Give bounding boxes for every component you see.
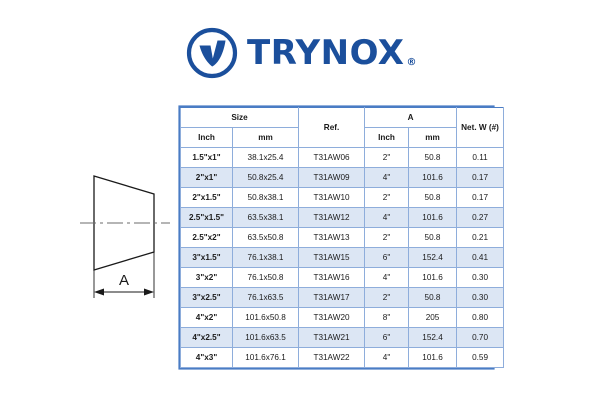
cell-a-inch: 6" [365, 328, 409, 348]
cell-size-mm: 63.5x50.8 [233, 228, 299, 248]
registered-trademark-icon: ® [407, 58, 418, 68]
cell-a-mm: 101.6 [409, 208, 457, 228]
cell-size-inch: 3"x2.5" [181, 288, 233, 308]
table-row: 3"x2.5"76.1x63.5T31AW172"50.80.30 [181, 288, 504, 308]
arrowhead-left-icon [94, 289, 104, 296]
brand-logo: TRYNOX® [186, 24, 416, 82]
cell-size-mm: 76.1x50.8 [233, 268, 299, 288]
cell-size-mm: 101.6x76.1 [233, 348, 299, 368]
cell-ref: T31AW22 [299, 348, 365, 368]
subheader-a-mm: mm [409, 128, 457, 148]
brand-wordmark: TRYNOX® [247, 36, 417, 70]
cell-size-mm: 76.1x63.5 [233, 288, 299, 308]
cell-ref: T31AW06 [299, 148, 365, 168]
cell-a-mm: 205 [409, 308, 457, 328]
cell-ref: T31AW21 [299, 328, 365, 348]
table-body: 1.5"x1"38.1x25.4T31AW062"50.80.112"x1"50… [181, 148, 504, 368]
specification-table: Size Ref. A Net. W (#) Inch mm Inch mm 1… [180, 107, 504, 368]
cell-a-mm: 101.6 [409, 348, 457, 368]
cell-a-mm: 101.6 [409, 268, 457, 288]
cell-a-mm: 101.6 [409, 168, 457, 188]
subheader-size-inch: Inch [181, 128, 233, 148]
table-row: 4"x3"101.6x76.1T31AW224"101.60.59 [181, 348, 504, 368]
header-group-a: A [365, 108, 457, 128]
cell-a-inch: 8" [365, 308, 409, 328]
cell-net-weight: 0.11 [457, 148, 504, 168]
table-header-group-row: Size Ref. A Net. W (#) [181, 108, 504, 128]
table-row: 4"x2"101.6x50.8T31AW208"2050.80 [181, 308, 504, 328]
cell-size-inch: 4"x2.5" [181, 328, 233, 348]
cell-a-inch: 2" [365, 228, 409, 248]
cell-size-mm: 101.6x50.8 [233, 308, 299, 328]
cell-a-mm: 50.8 [409, 228, 457, 248]
cell-a-mm: 50.8 [409, 188, 457, 208]
table-row: 2.5"x2"63.5x50.8T31AW132"50.80.21 [181, 228, 504, 248]
cell-a-mm: 152.4 [409, 328, 457, 348]
cell-net-weight: 0.59 [457, 348, 504, 368]
cell-ref: T31AW15 [299, 248, 365, 268]
cell-net-weight: 0.27 [457, 208, 504, 228]
cell-net-weight: 0.70 [457, 328, 504, 348]
cell-size-mm: 76.1x38.1 [233, 248, 299, 268]
cell-ref: T31AW09 [299, 168, 365, 188]
cell-a-inch: 2" [365, 188, 409, 208]
cell-a-mm: 50.8 [409, 148, 457, 168]
checkmark-circle-icon [186, 27, 238, 79]
header-net-weight: Net. W (#) [457, 108, 504, 148]
cell-size-inch: 3"x2" [181, 268, 233, 288]
subheader-size-mm: mm [233, 128, 299, 148]
cell-a-inch: 4" [365, 208, 409, 228]
table-row: 1.5"x1"38.1x25.4T31AW062"50.80.11 [181, 148, 504, 168]
table-row: 3"x1.5"76.1x38.1T31AW156"152.40.41 [181, 248, 504, 268]
cell-size-mm: 101.6x63.5 [233, 328, 299, 348]
table-row: 4"x2.5"101.6x63.5T31AW216"152.40.70 [181, 328, 504, 348]
cell-size-mm: 50.8x38.1 [233, 188, 299, 208]
cell-a-mm: 50.8 [409, 288, 457, 308]
brand-name: TRYNOX [247, 36, 405, 70]
specification-table-container: Size Ref. A Net. W (#) Inch mm Inch mm 1… [180, 107, 493, 368]
header-group-size: Size [181, 108, 299, 128]
cell-ref: T31AW13 [299, 228, 365, 248]
cell-size-mm: 63.5x38.1 [233, 208, 299, 228]
cell-net-weight: 0.17 [457, 188, 504, 208]
cell-net-weight: 0.80 [457, 308, 504, 328]
cell-net-weight: 0.30 [457, 288, 504, 308]
cell-ref: T31AW12 [299, 208, 365, 228]
cell-net-weight: 0.41 [457, 248, 504, 268]
dimension-label-a: A [119, 272, 129, 289]
header-ref: Ref. [299, 108, 365, 148]
cell-a-inch: 2" [365, 148, 409, 168]
cell-a-inch: 4" [365, 168, 409, 188]
cell-a-inch: 2" [365, 288, 409, 308]
cell-ref: T31AW17 [299, 288, 365, 308]
cell-size-mm: 50.8x25.4 [233, 168, 299, 188]
cell-size-inch: 4"x3" [181, 348, 233, 368]
cell-a-mm: 152.4 [409, 248, 457, 268]
cell-size-inch: 1.5"x1" [181, 148, 233, 168]
reducer-trapezoid-icon: A [58, 168, 194, 304]
cell-net-weight: 0.30 [457, 268, 504, 288]
cell-size-inch: 2.5"x2" [181, 228, 233, 248]
cell-ref: T31AW20 [299, 308, 365, 328]
cell-size-inch: 2.5"x1.5" [181, 208, 233, 228]
cell-net-weight: 0.17 [457, 168, 504, 188]
table-row: 2.5"x1.5"63.5x38.1T31AW124"101.60.27 [181, 208, 504, 228]
table-row: 2"x1"50.8x25.4T31AW094"101.60.17 [181, 168, 504, 188]
cell-net-weight: 0.21 [457, 228, 504, 248]
cell-a-inch: 4" [365, 348, 409, 368]
table-row: 2"x1.5"50.8x38.1T31AW102"50.80.17 [181, 188, 504, 208]
cell-size-inch: 2"x1" [181, 168, 233, 188]
cell-size-inch: 4"x2" [181, 308, 233, 328]
cell-a-inch: 4" [365, 268, 409, 288]
table-header: Size Ref. A Net. W (#) Inch mm Inch mm [181, 108, 504, 148]
cell-size-mm: 38.1x25.4 [233, 148, 299, 168]
table-row: 3"x2"76.1x50.8T31AW164"101.60.30 [181, 268, 504, 288]
cell-size-inch: 3"x1.5" [181, 248, 233, 268]
cell-size-inch: 2"x1.5" [181, 188, 233, 208]
reducer-diagram: A [58, 168, 194, 304]
cell-ref: T31AW16 [299, 268, 365, 288]
cell-a-inch: 6" [365, 248, 409, 268]
cell-ref: T31AW10 [299, 188, 365, 208]
subheader-a-inch: Inch [365, 128, 409, 148]
arrowhead-right-icon [144, 289, 154, 296]
